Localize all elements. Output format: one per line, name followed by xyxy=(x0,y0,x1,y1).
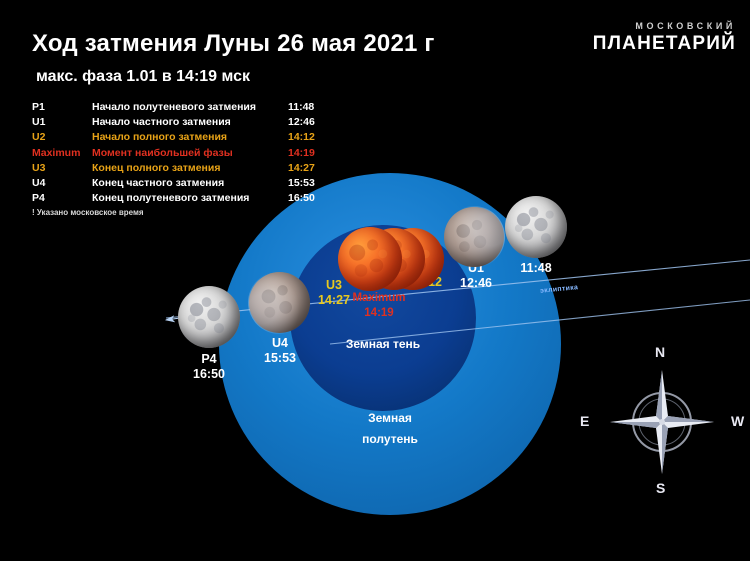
legend-time-U1: 12:46 xyxy=(288,115,332,130)
marker-label-U3-code: U3 xyxy=(326,278,342,292)
planetarium-logo: МОСКОВСКИЙ ПЛАНЕТАРИЙ xyxy=(593,22,736,53)
legend-row-P1: P1 Начало полутеневого затмения 11:48 xyxy=(32,100,332,115)
legend-time-Maximum: 14:19 xyxy=(288,146,332,161)
moon-P1 xyxy=(505,196,567,258)
legend-row-U1: U1 Начало частного затмения 12:46 xyxy=(32,115,332,130)
logo-main-line: ПЛАНЕТАРИЙ xyxy=(593,34,736,53)
legend-desc-P1: Начало полутеневого затмения xyxy=(92,100,288,115)
compass-rose-icon xyxy=(592,352,732,492)
moon-P4 xyxy=(178,286,240,348)
legend-code-U4: U4 xyxy=(32,176,92,191)
moon-craters xyxy=(178,286,240,348)
marker-label-U4: U4 15:53 xyxy=(250,336,310,366)
moon-shadow-overlay xyxy=(443,206,505,268)
legend-row-P4: P4 Конец полутеневого затмения 16:50 xyxy=(32,191,332,206)
legend-code-P1: P1 xyxy=(32,100,92,115)
legend-row-U3: U3 Конец полного затмения 14:27 xyxy=(32,161,332,176)
marker-label-U4-time: 15:53 xyxy=(250,351,310,366)
marker-label-U4-code: U4 xyxy=(272,336,288,350)
legend-row-U2: U2 Начало полного затмения 14:12 xyxy=(32,130,332,145)
legend-desc-P4: Конец полутеневого затмения xyxy=(92,191,288,206)
moon-craters xyxy=(338,227,402,291)
legend-desc-U4: Конец частного затмения xyxy=(92,176,288,191)
penumbra-label: Земная полутень xyxy=(330,408,450,450)
legend-code-U1: U1 xyxy=(32,115,92,130)
moon-craters xyxy=(505,196,567,258)
marker-label-P4-time: 16:50 xyxy=(178,367,240,382)
legend-row-U4: U4 Конец частного затмения 15:53 xyxy=(32,176,332,191)
moon-shadow-overlay xyxy=(248,271,311,334)
umbra-label: Земная тень xyxy=(313,337,453,351)
legend-desc-U1: Начало частного затмения xyxy=(92,115,288,130)
eclipse-diagram-page: P1 11:48 U1 12:46 U2 14:12 Maximum 14:19… xyxy=(0,0,750,561)
compass-label-south: S xyxy=(656,480,665,496)
legend-time-U3: 14:27 xyxy=(288,161,332,176)
marker-label-Maximum-time: 14:19 xyxy=(327,306,431,321)
eclipse-phase-legend: P1 Начало полутеневого затмения 11:48 U1… xyxy=(32,100,332,206)
marker-label-P4-code: P4 xyxy=(201,352,216,366)
penumbra-label-line1: Земная xyxy=(368,411,412,425)
legend-footnote: ! Указано московское время xyxy=(32,208,144,217)
page-subtitle: макс. фаза 1.01 в 14:19 мск xyxy=(36,68,250,86)
legend-desc-U3: Конец полного затмения xyxy=(92,161,288,176)
legend-code-Maximum: Maximum xyxy=(32,146,92,161)
marker-label-P4: P4 16:50 xyxy=(178,352,240,382)
legend-time-P4: 16:50 xyxy=(288,191,332,206)
compass-label-north: N xyxy=(655,344,665,360)
legend-time-U4: 15:53 xyxy=(288,176,332,191)
compass-label-west: W xyxy=(731,413,744,429)
legend-code-U3: U3 xyxy=(32,161,92,176)
compass-rose: N E W S xyxy=(592,352,732,492)
penumbra-label-line2: полутень xyxy=(362,432,418,446)
legend-desc-Maximum: Момент наибольшей фазы xyxy=(92,146,288,161)
page-title: Ход затмения Луны 26 мая 2021 г xyxy=(32,30,435,58)
marker-label-U3-time: 14:27 xyxy=(305,293,363,308)
legend-time-P1: 11:48 xyxy=(288,100,332,115)
legend-time-U2: 14:12 xyxy=(288,130,332,145)
legend-code-U2: U2 xyxy=(32,130,92,145)
legend-row-Maximum: Maximum Момент наибольшей фазы 14:19 xyxy=(32,146,332,161)
legend-code-P4: P4 xyxy=(32,191,92,206)
compass-label-east: E xyxy=(580,413,589,429)
moon-U3 xyxy=(338,227,402,291)
marker-label-P1-time: 11:48 xyxy=(505,261,567,276)
moon-U1 xyxy=(444,207,504,267)
logo-top-line: МОСКОВСКИЙ xyxy=(593,22,736,31)
legend-desc-U2: Начало полного затмения xyxy=(92,130,288,145)
moon-U4 xyxy=(249,272,310,333)
